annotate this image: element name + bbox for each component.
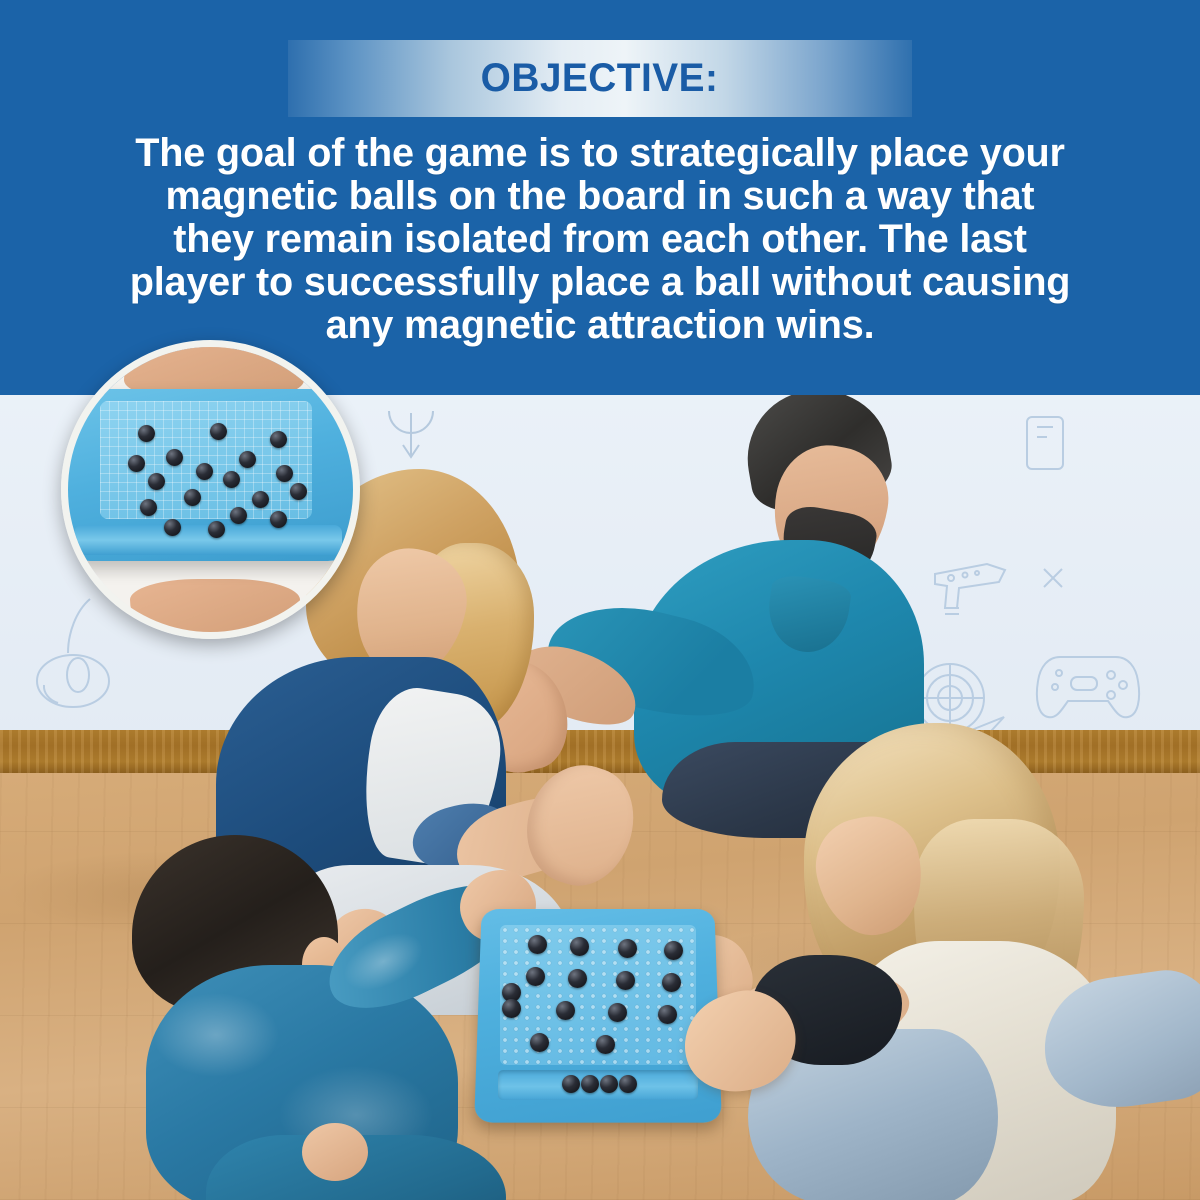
- magnetic-ball[interactable]: [568, 969, 587, 988]
- person-boy: [88, 835, 508, 1200]
- magnetic-ball[interactable]: [526, 967, 545, 986]
- magnetic-ball[interactable]: [662, 973, 681, 992]
- magnetic-ball[interactable]: [596, 1035, 615, 1054]
- objective-line-4: player to successfully place a ball with…: [46, 261, 1155, 304]
- inset-magnetic-ball: [166, 449, 183, 466]
- inset-magnetic-ball: [128, 455, 145, 472]
- magnetic-ball[interactable]: [502, 999, 521, 1018]
- magnetic-ball[interactable]: [618, 939, 637, 958]
- magnetic-ball[interactable]: [556, 1001, 575, 1020]
- objective-line-2: magnetic balls on the board in such a wa…: [46, 175, 1155, 218]
- magnetic-ball[interactable]: [608, 1003, 627, 1022]
- boy-foot: [302, 1123, 368, 1181]
- tray-magnetic-ball[interactable]: [562, 1075, 580, 1093]
- inset-magnetic-ball: [290, 483, 307, 500]
- tray-magnetic-ball[interactable]: [581, 1075, 599, 1093]
- inset-magnetic-ball: [164, 519, 181, 536]
- page-title: OBJECTIVE:: [481, 56, 719, 101]
- game-board[interactable]: [478, 905, 718, 1120]
- magnetic-ball[interactable]: [528, 935, 547, 954]
- inset-magnetic-ball: [223, 471, 240, 488]
- inset-hand-bottom: [130, 579, 300, 639]
- inset-magnetic-ball: [270, 431, 287, 448]
- objective-banner: OBJECTIVE:: [288, 40, 912, 117]
- poster-canvas: OBJECTIVE: The goal of the game is to st…: [0, 0, 1200, 1200]
- inset-magnetic-ball: [138, 425, 155, 442]
- inset-magnetic-ball: [270, 511, 287, 528]
- inset-magnetic-ball: [276, 465, 293, 482]
- tray-magnetic-ball[interactable]: [600, 1075, 618, 1093]
- inset-magnetic-ball: [184, 489, 201, 506]
- inset-magnetic-ball: [140, 499, 157, 516]
- magnetic-ball[interactable]: [570, 937, 589, 956]
- magnetic-ball[interactable]: [616, 971, 635, 990]
- objective-text: The goal of the game is to strategically…: [40, 132, 1160, 347]
- objective-line-1: The goal of the game is to strategically…: [46, 132, 1155, 175]
- product-closeup-inset: [61, 340, 360, 639]
- inset-magnetic-ball: [208, 521, 225, 538]
- inset-magnetic-ball: [252, 491, 269, 508]
- inset-magnetic-ball: [230, 507, 247, 524]
- magnetic-ball[interactable]: [530, 1033, 549, 1052]
- inset-magnetic-ball: [148, 473, 165, 490]
- magnetic-ball[interactable]: [658, 1005, 677, 1024]
- magnetic-ball[interactable]: [664, 941, 683, 960]
- inset-board-body: [64, 389, 354, 561]
- objective-line-3: they remain isolated from each other. Th…: [46, 218, 1155, 261]
- inset-magnetic-ball: [239, 451, 256, 468]
- inset-magnetic-ball: [196, 463, 213, 480]
- tray-magnetic-ball[interactable]: [619, 1075, 637, 1093]
- inset-magnetic-ball: [210, 423, 227, 440]
